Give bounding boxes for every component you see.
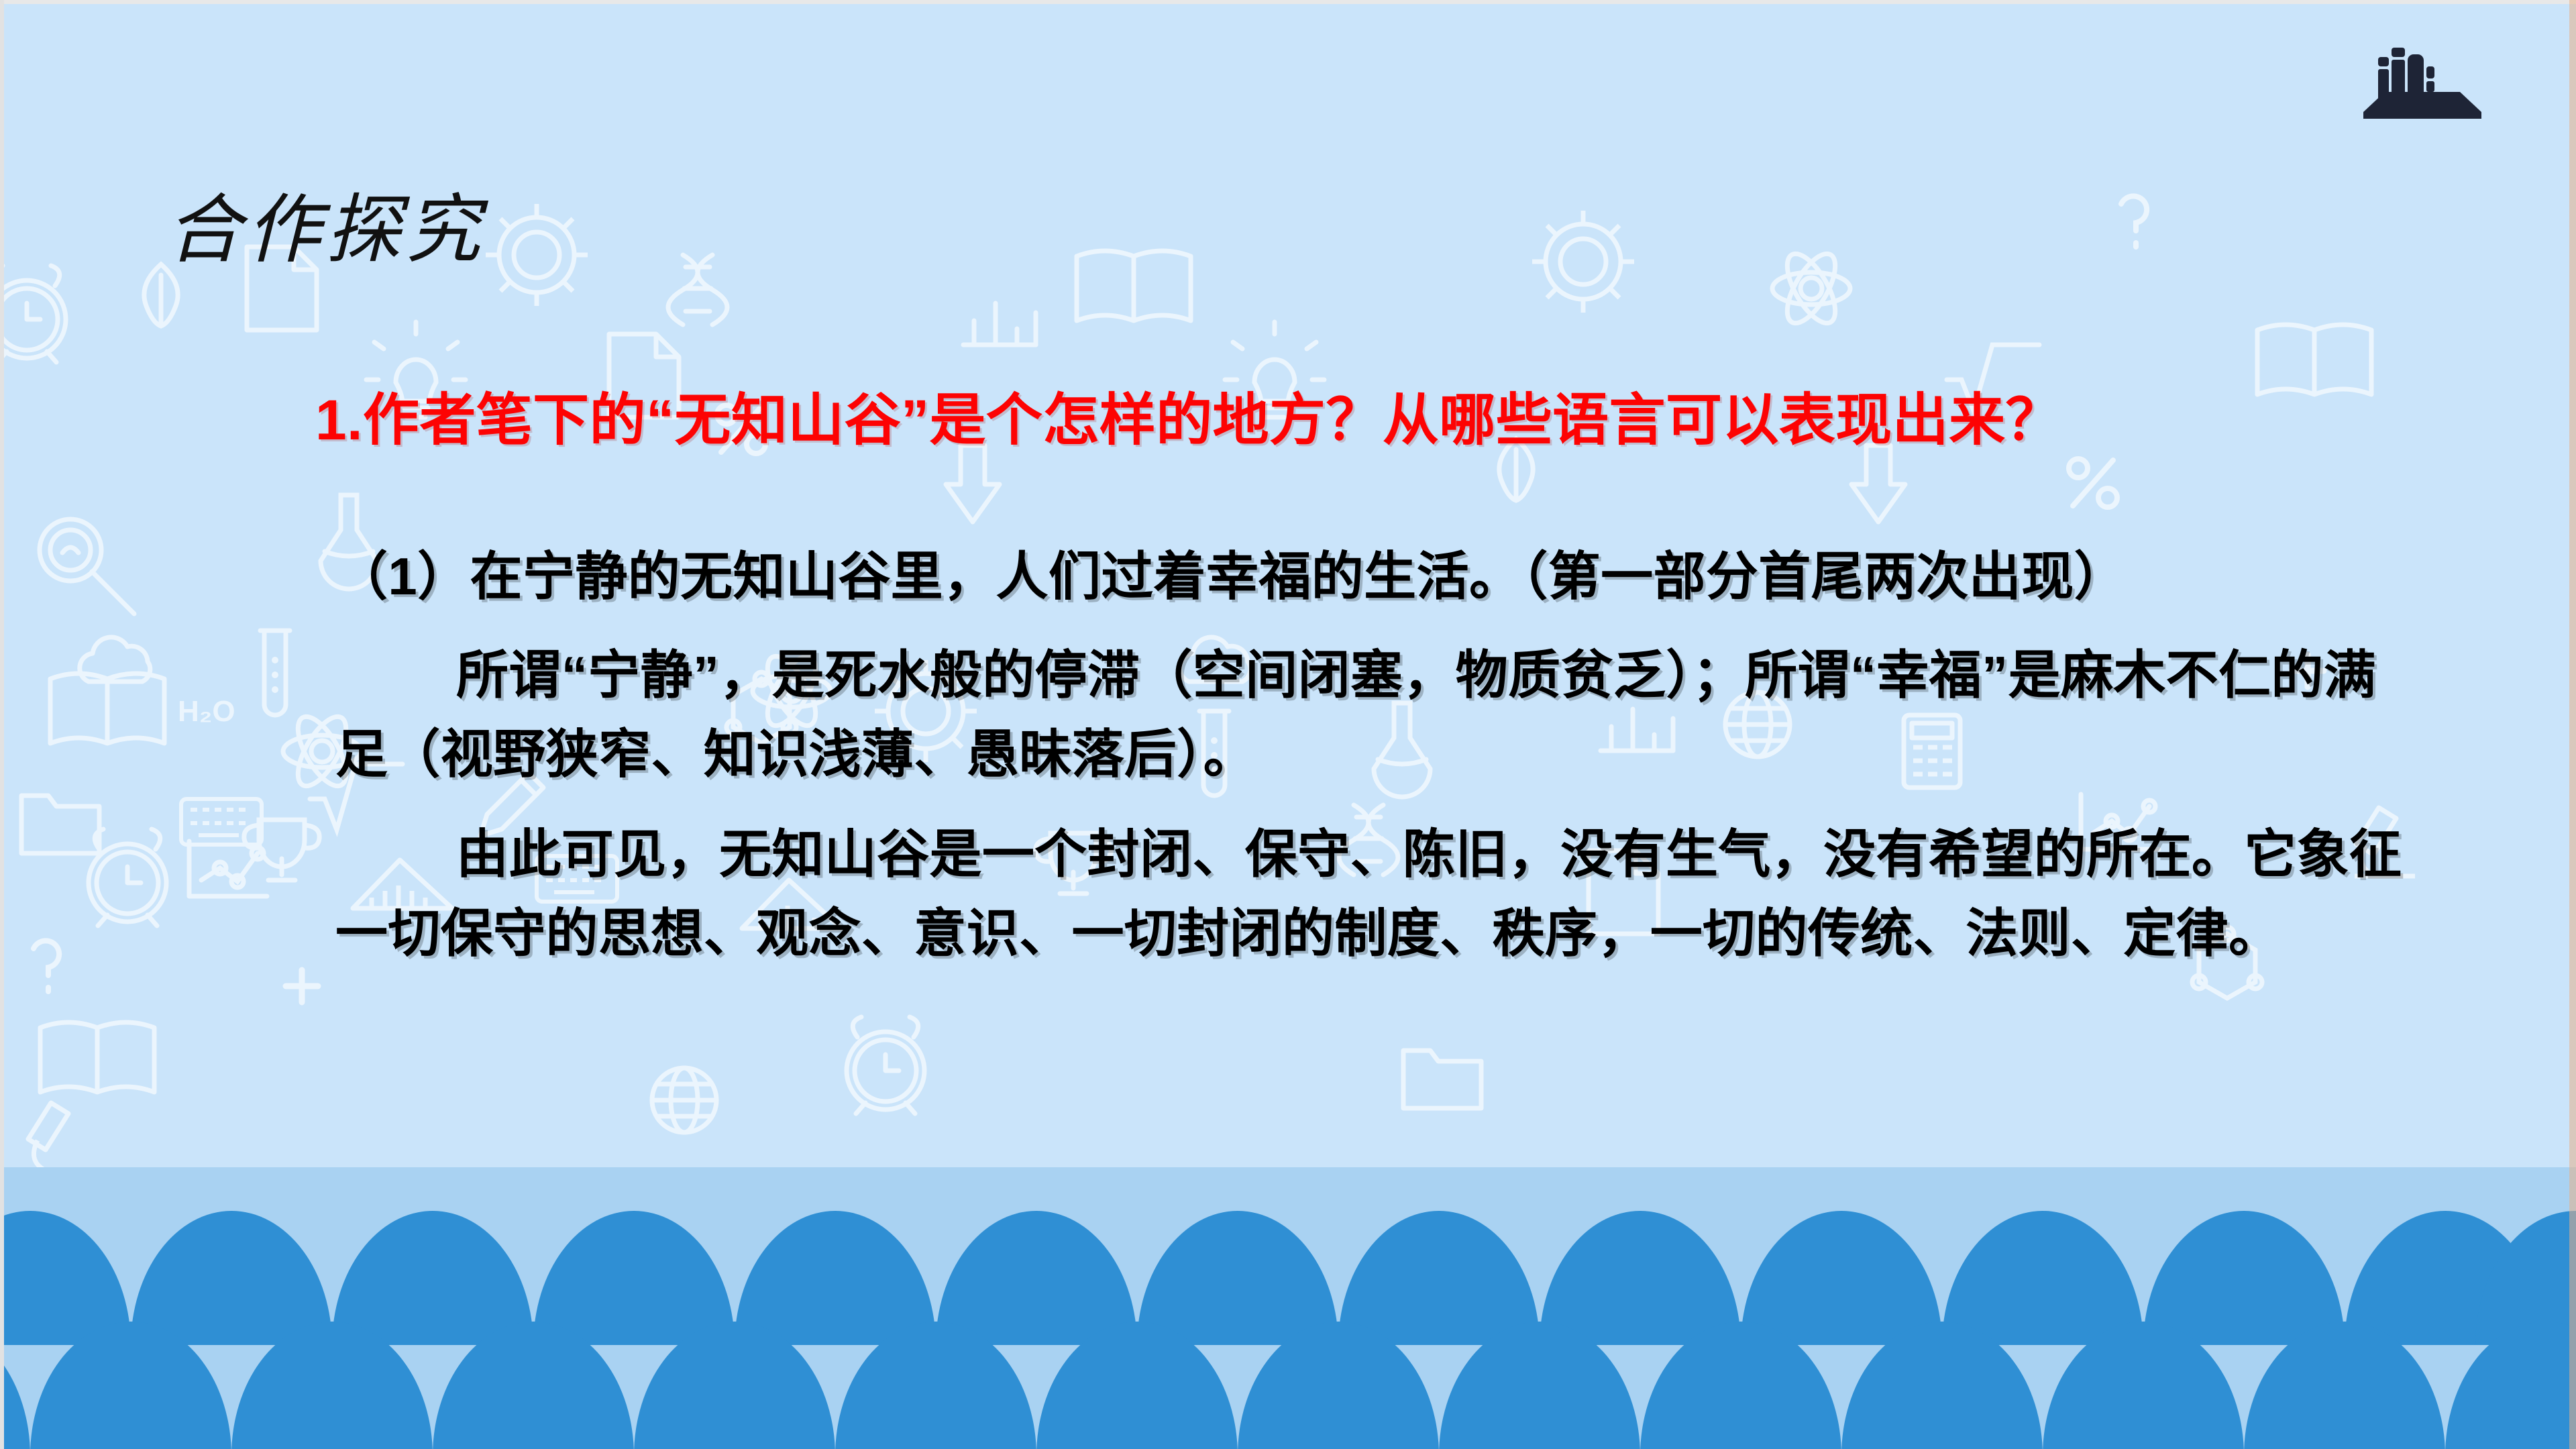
left-edge-line	[0, 0, 4, 1449]
books-on-shelf-icon	[2358, 37, 2485, 127]
top-edge-line	[0, 0, 2576, 4]
paragraph-2: 所谓“宁静”，是死水般的停滞（空间闭塞，物质贫乏）；所谓“幸福”是麻木不仁的满足…	[335, 635, 2415, 794]
section-title: 合作探究	[166, 193, 485, 268]
paragraph-3: 由此可见，无知山谷是一个封闭、保守、陈旧，没有生气，没有希望的所在。它象征一切保…	[335, 814, 2415, 973]
paragraph-1: （1）在宁静的无知山谷里，人们过着幸福的生活。（第一部分首尾两次出现）	[335, 537, 2415, 616]
body-content: （1）在宁静的无知山谷里，人们过着幸福的生活。（第一部分首尾两次出现） 所谓“宁…	[335, 537, 2415, 977]
scallop-row-front	[0, 1281, 2576, 1449]
slide-root: H₂O	[0, 0, 2576, 1449]
question-heading: 1.作者笔下的“无知山谷”是个怎样的地方？从哪些语言可以表现出来？	[315, 388, 2062, 453]
right-edge-line	[2569, 0, 2576, 1449]
